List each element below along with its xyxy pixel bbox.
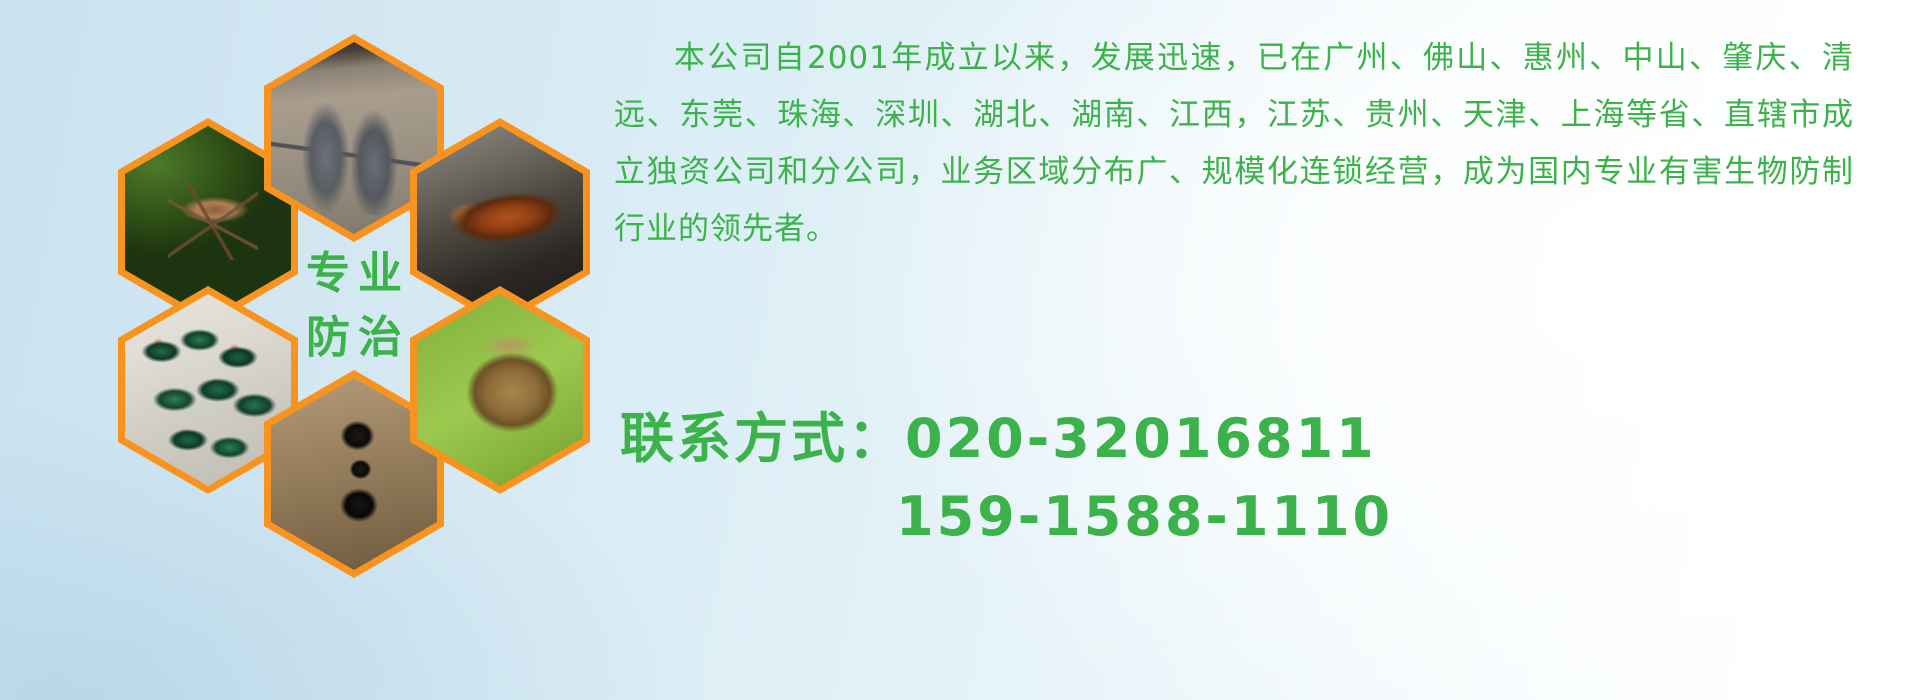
pest-control-banner: 专业 防治 本公司自2001年成立以来，发展迅速，已在广州、佛山、惠州、中山、肇…	[0, 0, 1920, 700]
badge-line-1: 专业	[298, 252, 410, 296]
badge-line-2: 防治	[298, 316, 410, 360]
badge-text: 专业 防治	[298, 252, 410, 360]
company-intro-paragraph: 本公司自2001年成立以来，发展迅速，已在广州、佛山、惠州、中山、肇庆、清远、东…	[614, 30, 1854, 258]
contact-block: 联系方式：020-32016811 159-1588-1110	[620, 400, 1860, 556]
contact-line-mobile: 159-1588-1110	[620, 478, 1860, 556]
contact-line-primary: 联系方式：020-32016811	[620, 400, 1860, 478]
hexagon-photo-cluster: 专业 防治	[86, 8, 586, 568]
